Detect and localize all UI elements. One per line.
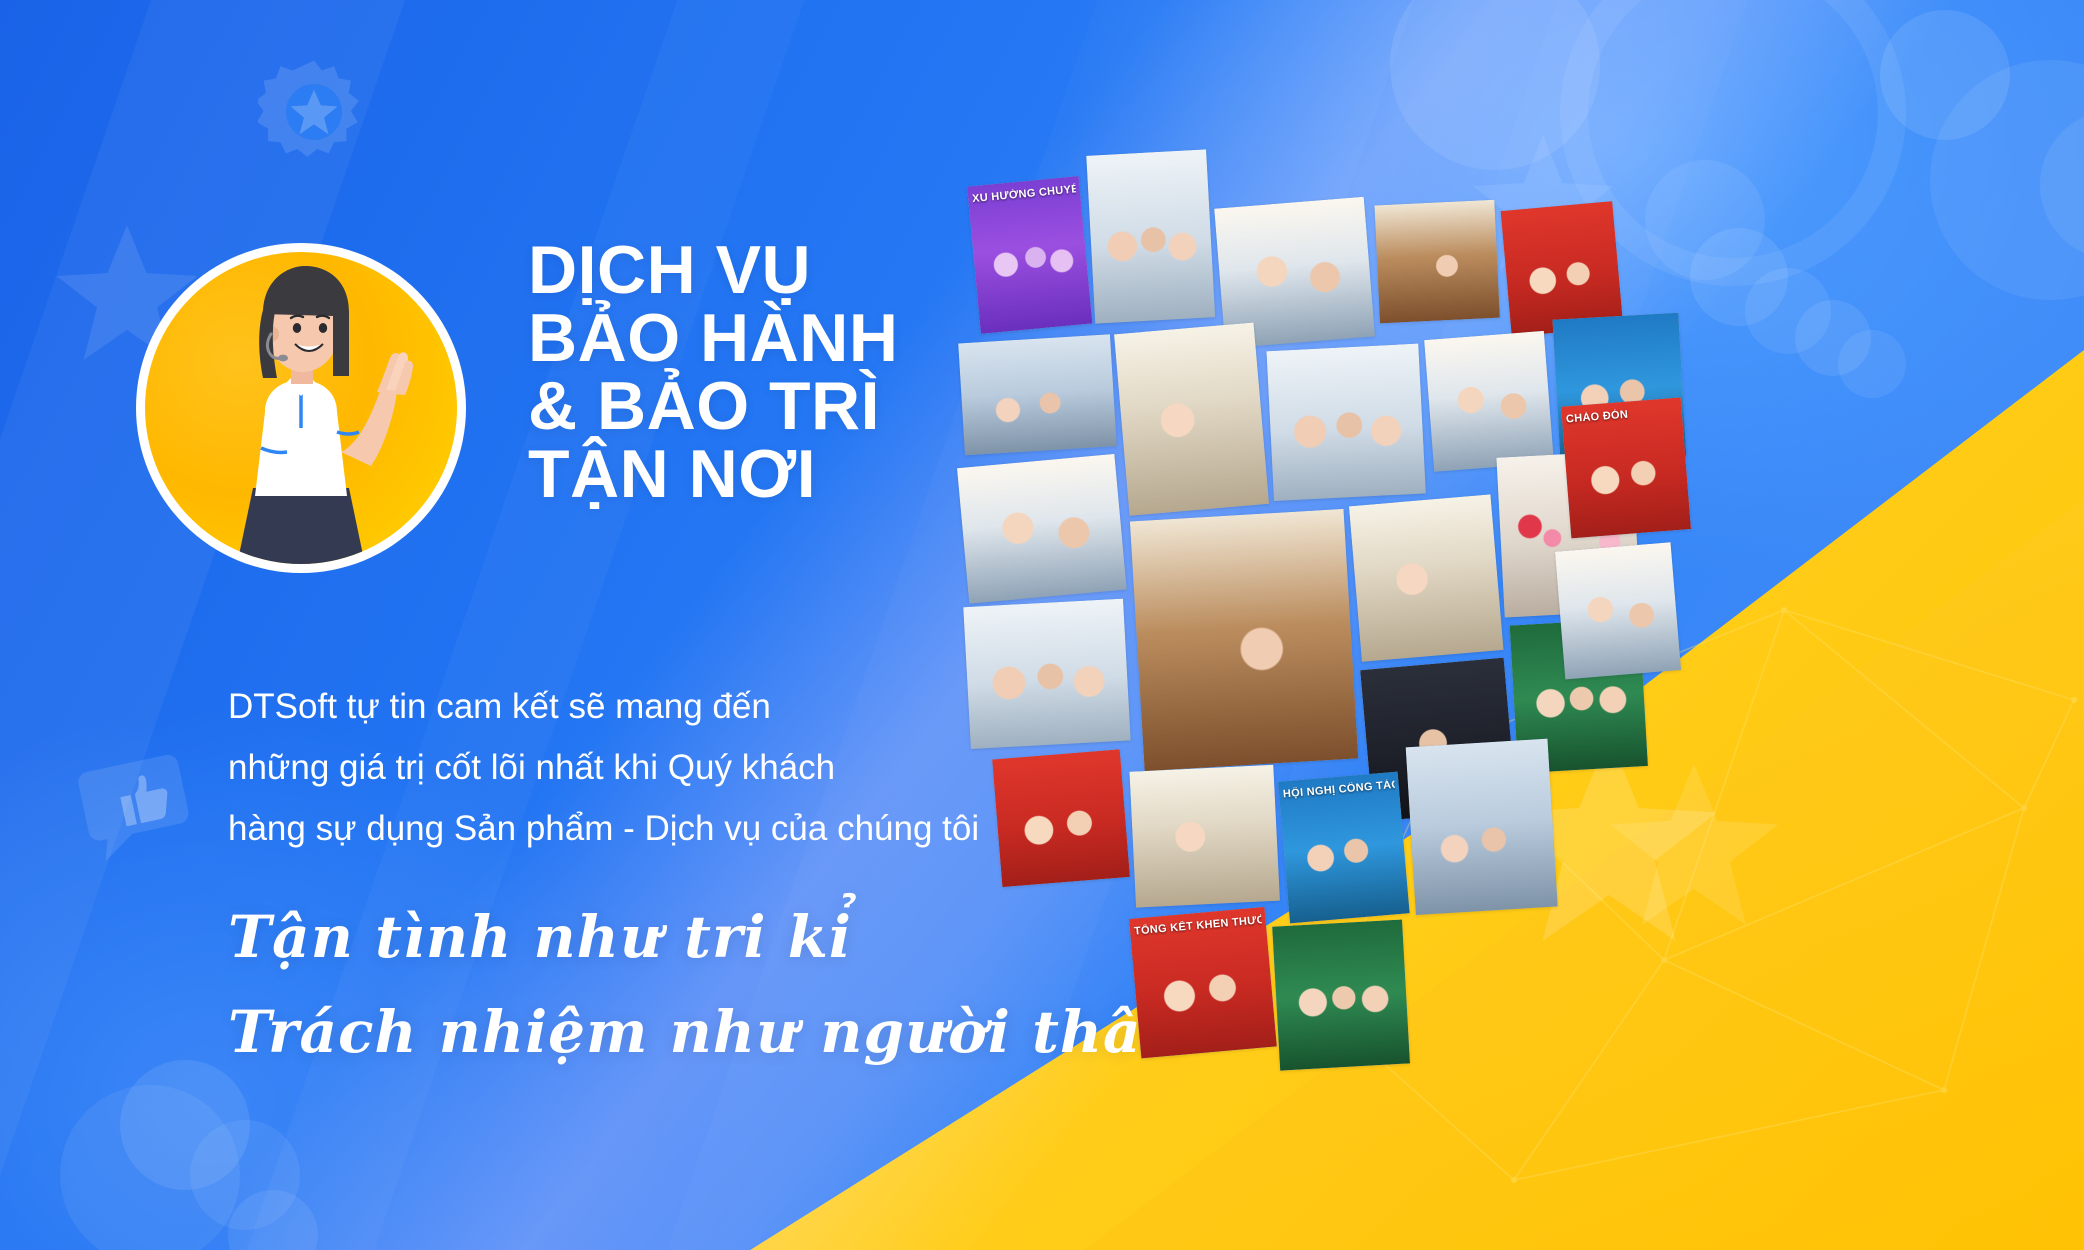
- collage-photo: [1129, 765, 1279, 908]
- paragraph-line-2: những giá trị cốt lõi nhất khi Quý khách: [228, 737, 979, 798]
- photo-thumbnail: [1424, 331, 1554, 472]
- collage-photo: [957, 454, 1127, 604]
- photo-thumbnail: [1272, 920, 1410, 1071]
- collage-photo: [958, 334, 1117, 455]
- page-title: DỊCH VỤ BẢO HÀNH & BẢO TRÌ TẬN NƠI: [528, 236, 898, 508]
- collage-photo: [1266, 344, 1425, 501]
- photo-thumbnail: [1555, 542, 1681, 679]
- collage-photo: CHÀO ĐÓN: [1561, 397, 1691, 538]
- support-agent-avatar: [136, 243, 466, 573]
- agent-illustration: [145, 252, 457, 564]
- collage-photo: [1130, 509, 1358, 771]
- photo-thumbnail: [1349, 494, 1504, 661]
- headline-line-1: DỊCH VỤ: [528, 236, 898, 304]
- collage-photo: [1424, 331, 1554, 472]
- paragraph-line-3: hàng sự dụng Sản phẩm - Dịch vụ của chún…: [228, 798, 979, 859]
- collage-photo: [1374, 200, 1499, 324]
- photo-thumbnail: [1374, 200, 1499, 324]
- collage-photo: [992, 749, 1130, 887]
- collage-photo: [1349, 494, 1504, 661]
- photo-thumbnail: [1086, 149, 1215, 323]
- photo-thumbnail: [963, 599, 1130, 749]
- paragraph-line-1: DTSoft tự tin cam kết sẽ mang đến: [228, 676, 979, 737]
- collage-photo: TỔNG KẾT KHEN THƯỞNG: [1129, 907, 1277, 1059]
- collage-photo: [1406, 739, 1558, 915]
- collage-photo: [1272, 920, 1410, 1071]
- collage-photo: [1555, 542, 1681, 679]
- photo-thumbnail: [992, 749, 1130, 887]
- photo-thumbnail: [958, 334, 1117, 455]
- collage-photo: [1114, 322, 1269, 515]
- photo-thumbnail: [1129, 765, 1279, 908]
- collage-photo: XU HƯỚNG CHUYỂN ĐỔI: [967, 176, 1092, 334]
- collage-photo: HỘI NGHỊ CÔNG TÁC: [1278, 772, 1410, 924]
- banner-canvas: DỊCH VỤ BẢO HÀNH & BẢO TRÌ TẬN NƠI DTSof…: [0, 0, 2084, 1250]
- photo-thumbnail: [957, 454, 1127, 604]
- gear-star-icon: [258, 56, 370, 168]
- photo-thumbnail: [1266, 344, 1425, 501]
- headline-line-3: & BẢO TRÌ: [528, 372, 898, 440]
- collage-photo: [1086, 149, 1215, 323]
- headline-line-2: BẢO HÀNH: [528, 304, 898, 372]
- headline-line-4: TẬN NƠI: [528, 440, 898, 508]
- photo-thumbnail: [1406, 739, 1558, 915]
- photo-thumbnail: [1114, 322, 1269, 515]
- photo-collage: XU HƯỚNG CHUYỂN ĐỔICHÀO ĐÓNHỘI NGHỊ CÔNG…: [966, 75, 2064, 1154]
- avatar-circle-background: [145, 252, 457, 564]
- description-paragraph: DTSoft tự tin cam kết sẽ mang đến những …: [228, 676, 979, 859]
- collage-photo: [963, 599, 1130, 749]
- photo-thumbnail: [1130, 509, 1358, 771]
